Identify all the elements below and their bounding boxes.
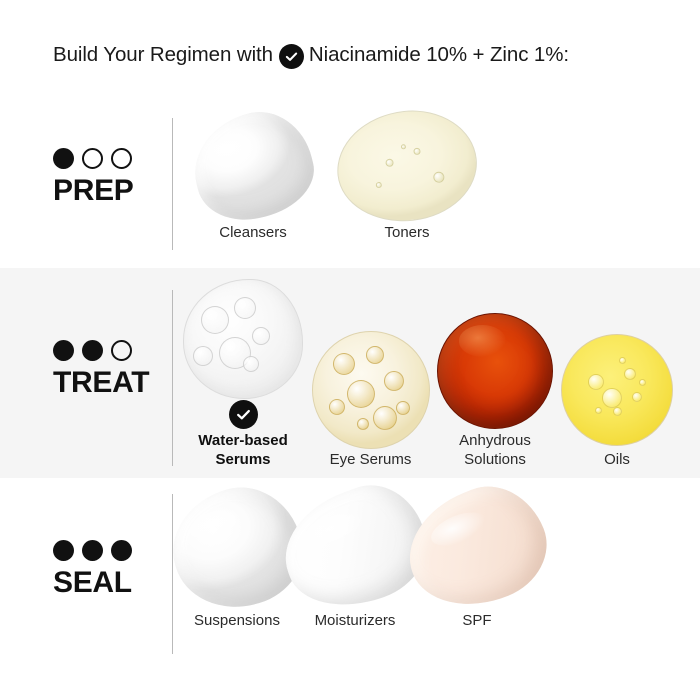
product-label: Toners <box>384 224 429 243</box>
section-divider <box>172 118 173 250</box>
bubble <box>613 407 622 416</box>
step-progress-dots-treat <box>53 340 165 361</box>
page-header: Build Your Regimen with Niacinamide 10% … <box>0 0 700 110</box>
product-list-prep: Cleansers Toners <box>178 108 690 243</box>
product-label: SPF <box>462 612 491 631</box>
bubble <box>384 371 404 391</box>
product-list-treat: Water-based Serums Eye Serums <box>178 278 690 470</box>
product-label: Oils <box>604 451 630 470</box>
selected-badge-holder <box>229 400 258 429</box>
page-title: Build Your Regimen with Niacinamide 10% … <box>53 43 569 68</box>
bubble <box>413 147 421 155</box>
product-label: Eye Serums <box>330 451 412 470</box>
product-item-cleansers[interactable]: Cleansers <box>178 108 328 243</box>
stage-label-seal: SEAL <box>53 568 165 598</box>
progress-dot-empty <box>82 148 103 169</box>
product-item-eye-serums[interactable]: Eye Serums <box>308 329 433 470</box>
product-item-toners[interactable]: Toners <box>332 108 482 243</box>
oil-swatch <box>561 334 673 446</box>
progress-dot-filled <box>111 540 132 561</box>
product-item-oils[interactable]: Oils <box>557 329 677 470</box>
swatch-container <box>408 484 546 612</box>
check-circle-icon <box>229 400 258 429</box>
bubble <box>588 374 604 390</box>
step-progress-dots-prep <box>53 148 165 169</box>
toner-swatch <box>332 104 483 228</box>
stage-label-treat: TREAT <box>53 368 165 398</box>
highlight <box>186 502 251 548</box>
highlight <box>302 505 371 554</box>
swatch-container <box>561 329 673 451</box>
spf-swatch <box>392 470 562 626</box>
bubble <box>357 418 369 430</box>
bubble <box>433 171 445 183</box>
swatch-container <box>437 310 553 432</box>
bubble <box>243 356 259 372</box>
page-title-suffix: Niacinamide 10% + Zinc 1%: <box>309 43 569 67</box>
swatch-container <box>312 329 430 451</box>
bubble <box>396 401 410 415</box>
stage-indicator-seal: SEAL <box>53 540 165 598</box>
stage-indicator-prep: PREP <box>53 148 165 206</box>
product-item-water-based-serums[interactable]: Water-based Serums <box>178 278 308 470</box>
swatch-container <box>194 108 312 224</box>
bubble <box>201 306 229 334</box>
progress-dot-filled <box>53 540 74 561</box>
swatch-container <box>173 484 301 612</box>
swatch-container <box>337 108 477 224</box>
product-label: Water-based Serums <box>198 432 287 470</box>
bubble <box>595 407 602 414</box>
progress-dot-filled <box>53 148 74 169</box>
bubble <box>252 327 270 345</box>
progress-dot-filled <box>53 340 74 361</box>
product-label: Moisturizers <box>315 612 396 631</box>
bubble <box>632 392 642 402</box>
product-label: Cleansers <box>219 224 287 243</box>
bubble <box>193 346 213 366</box>
anhydrous-solution-swatch <box>437 313 553 429</box>
bubble <box>373 406 397 430</box>
regimen-step-prep: PREP Cleansers Toners <box>0 100 700 268</box>
bubble <box>375 182 382 189</box>
bubble <box>366 346 384 364</box>
stage-label-prep: PREP <box>53 176 165 206</box>
swatch-container <box>183 278 303 400</box>
product-item-moisturizers[interactable]: Moisturizers <box>296 484 414 631</box>
stage-indicator-treat: TREAT <box>53 340 165 398</box>
progress-dot-empty <box>111 148 132 169</box>
bubble <box>234 297 256 319</box>
highlight <box>427 505 491 552</box>
bubble <box>619 357 626 364</box>
cleanser-swatch <box>183 101 323 230</box>
product-label: Suspensions <box>194 612 280 631</box>
product-item-suspensions[interactable]: Suspensions <box>178 484 296 631</box>
bubble <box>624 368 636 380</box>
bubble <box>333 353 355 375</box>
section-divider <box>172 290 173 466</box>
bubble <box>639 379 646 386</box>
bubble <box>329 399 345 415</box>
check-circle-icon <box>279 44 304 69</box>
progress-dot-filled <box>82 340 103 361</box>
product-list-seal: Suspensions Moisturizers SPF <box>178 484 690 631</box>
regimen-step-treat: TREAT Water- <box>0 268 700 478</box>
bubble <box>347 380 375 408</box>
step-progress-dots-seal <box>53 540 165 561</box>
product-label: Anhydrous Solutions <box>459 432 531 470</box>
bubble <box>386 159 395 168</box>
bubble <box>401 144 406 149</box>
product-item-spf[interactable]: SPF <box>414 484 540 631</box>
progress-dot-filled <box>82 540 103 561</box>
product-item-anhydrous-solutions[interactable]: Anhydrous Solutions <box>433 310 557 470</box>
water-based-serum-swatch <box>183 279 303 399</box>
swatch-container <box>284 484 426 612</box>
regimen-step-seal: SEAL Suspensions Moisturizers <box>0 478 700 700</box>
page-title-prefix: Build Your Regimen with <box>53 43 273 67</box>
eye-serum-swatch <box>312 331 430 449</box>
bubble <box>602 388 622 408</box>
progress-dot-empty <box>111 340 132 361</box>
